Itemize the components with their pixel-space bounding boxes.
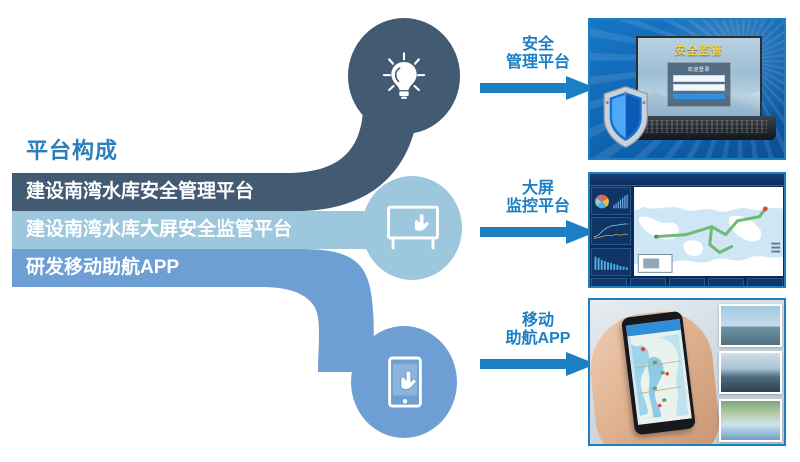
bar-label-big-screen: 建设南湾水库大屏安全监管平台: [26, 220, 292, 239]
arrow-label-line1: 大屏: [478, 180, 598, 198]
dashboard-stats-row: [591, 278, 783, 287]
photo-harbor: [719, 304, 782, 347]
arrow-label-line1: 安全: [478, 36, 598, 54]
photo-riverside-boats: [719, 399, 782, 442]
stat-card: [708, 278, 744, 287]
infographic-canvas: 平台构成 建设南湾水库安全管理平台 建设南湾水库大屏安全监管平台 研发移动助航A…: [0, 0, 800, 462]
large-screen-monitoring-platform-screenshot[interactable]: [588, 172, 786, 288]
screen-title: 安全监管: [638, 42, 761, 58]
username-field[interactable]: [673, 75, 725, 82]
page-title: 平台构成: [26, 140, 118, 162]
arrow-label-line2: 监控平台: [478, 198, 598, 216]
shield-icon: [596, 85, 655, 149]
arrow-label-line2: 助航APP: [478, 330, 598, 348]
lightbulb-icon: [376, 48, 432, 104]
safety-management-platform-screenshot[interactable]: 安全监管 欢迎登录: [588, 18, 786, 160]
stat-card: [747, 278, 783, 287]
arrow-right-icon: [478, 351, 598, 377]
login-panel: 欢迎登录: [667, 62, 731, 107]
line-chart-card: [591, 217, 631, 245]
stat-card: [630, 278, 666, 287]
phone-screen: [625, 320, 691, 425]
login-submit-button[interactable]: [673, 94, 725, 99]
photo-ship-bridge: [719, 351, 782, 394]
bar-label-mobile-app: 研发移动助航APP: [26, 258, 179, 277]
arrow-right-icon: [478, 75, 598, 101]
arrow-group-big-screen: 大屏 监控平台: [478, 180, 598, 250]
arrow-label-line2: 管理平台: [478, 54, 598, 72]
bar-label-safety-platform: 建设南湾水库安全管理平台: [26, 182, 254, 201]
stat-card: [591, 278, 627, 287]
arrow-label-line1: 移动: [478, 312, 598, 330]
bar-chart-card: [591, 248, 631, 277]
app-navigation-map: [627, 330, 691, 424]
mobile-touch-icon: [380, 354, 430, 412]
pie-chart-card: [591, 187, 631, 215]
screen-touch-icon: [384, 202, 442, 254]
mobile-navigation-app-screenshot[interactable]: [588, 298, 786, 446]
login-heading: 欢迎登录: [671, 66, 727, 73]
stat-card: [669, 278, 705, 287]
dashboard-sidebar: [591, 187, 631, 276]
arrow-group-safety-platform: 安全 管理平台: [478, 36, 598, 106]
arrow-right-icon: [478, 219, 598, 245]
reservoir-map[interactable]: [634, 187, 784, 276]
arrow-group-mobile-app: 移动 助航APP: [478, 312, 598, 382]
dashboard-header: [588, 172, 786, 186]
password-field[interactable]: [673, 84, 725, 91]
